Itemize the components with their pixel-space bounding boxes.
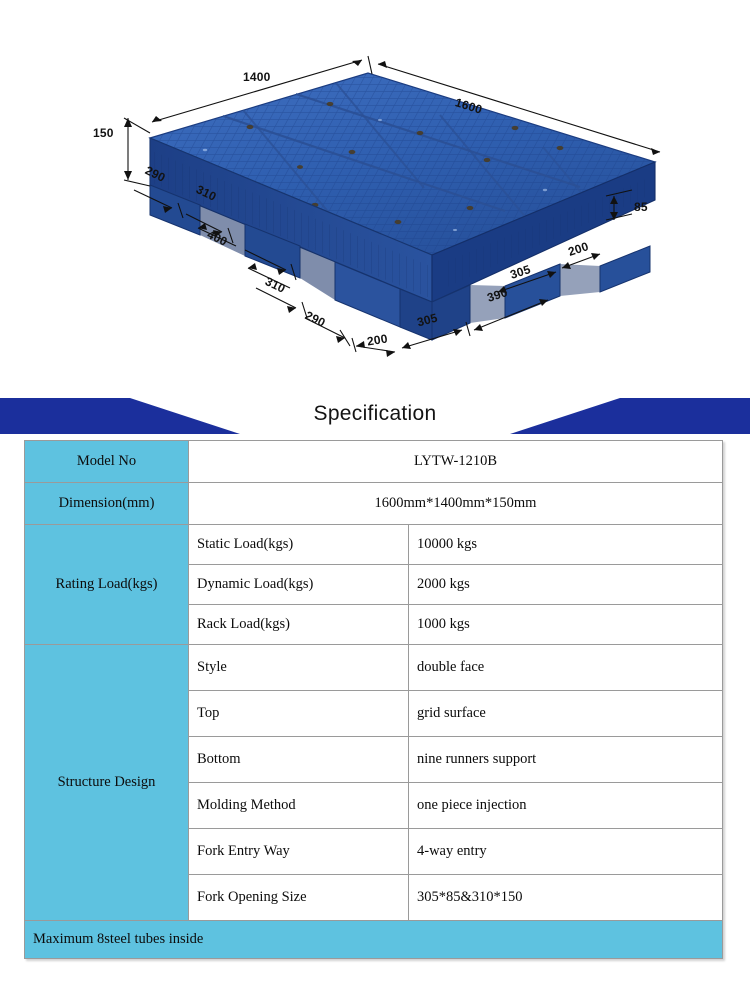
row-header-rating-load: Rating Load(kgs) <box>25 525 189 645</box>
table-row: Structure Design Style double face <box>25 645 723 691</box>
sub-label-fork-entry-way: Fork Entry Way <box>189 829 409 875</box>
sub-value-fork-opening-size: 305*85&310*150 <box>409 875 723 921</box>
sub-value-top: grid surface <box>409 691 723 737</box>
pallet-illustration: 1400 1600 150 290 310 400 310 290 200 30… <box>0 0 750 388</box>
table-row: Model No LYTW-1210B <box>25 441 723 483</box>
table-footnote: Maximum 8steel tubes inside <box>25 921 723 959</box>
dim-label-top-width: 1400 <box>243 70 271 84</box>
sub-value-static-load: 10000 kgs <box>409 525 723 565</box>
pallet-svg <box>0 0 750 388</box>
table-row: Dimension(mm) 1600mm*1400mm*150mm <box>25 483 723 525</box>
row-value-dimension: 1600mm*1400mm*150mm <box>189 483 723 525</box>
sub-label-rack-load: Rack Load(kgs) <box>189 605 409 645</box>
specification-table-wrap: Model No LYTW-1210B Dimension(mm) 1600mm… <box>0 440 750 959</box>
dim-label-height: 150 <box>93 126 114 140</box>
sub-value-fork-entry-way: 4-way entry <box>409 829 723 875</box>
sub-label-molding-method: Molding Method <box>189 783 409 829</box>
sub-label-bottom: Bottom <box>189 737 409 783</box>
table-row: Maximum 8steel tubes inside <box>25 921 723 959</box>
dim-label-fork-height: 85 <box>634 200 648 214</box>
sub-value-bottom: nine runners support <box>409 737 723 783</box>
row-value-model-no: LYTW-1210B <box>189 441 723 483</box>
sub-value-dynamic-load: 2000 kgs <box>409 565 723 605</box>
sub-label-top: Top <box>189 691 409 737</box>
row-header-model-no: Model No <box>25 441 189 483</box>
specification-banner: Specification <box>0 388 750 440</box>
sub-value-molding-method: one piece injection <box>409 783 723 829</box>
table-row: Rating Load(kgs) Static Load(kgs) 10000 … <box>25 525 723 565</box>
sub-label-style: Style <box>189 645 409 691</box>
row-header-structure-design: Structure Design <box>25 645 189 921</box>
sub-value-rack-load: 1000 kgs <box>409 605 723 645</box>
sub-value-style: double face <box>409 645 723 691</box>
page-title: Specification <box>0 388 750 440</box>
sub-label-static-load: Static Load(kgs) <box>189 525 409 565</box>
row-header-dimension: Dimension(mm) <box>25 483 189 525</box>
sub-label-dynamic-load: Dynamic Load(kgs) <box>189 565 409 605</box>
sub-label-fork-opening-size: Fork Opening Size <box>189 875 409 921</box>
specification-table: Model No LYTW-1210B Dimension(mm) 1600mm… <box>24 440 723 959</box>
product-photo-panel: 1400 1600 150 290 310 400 310 290 200 30… <box>0 0 750 388</box>
